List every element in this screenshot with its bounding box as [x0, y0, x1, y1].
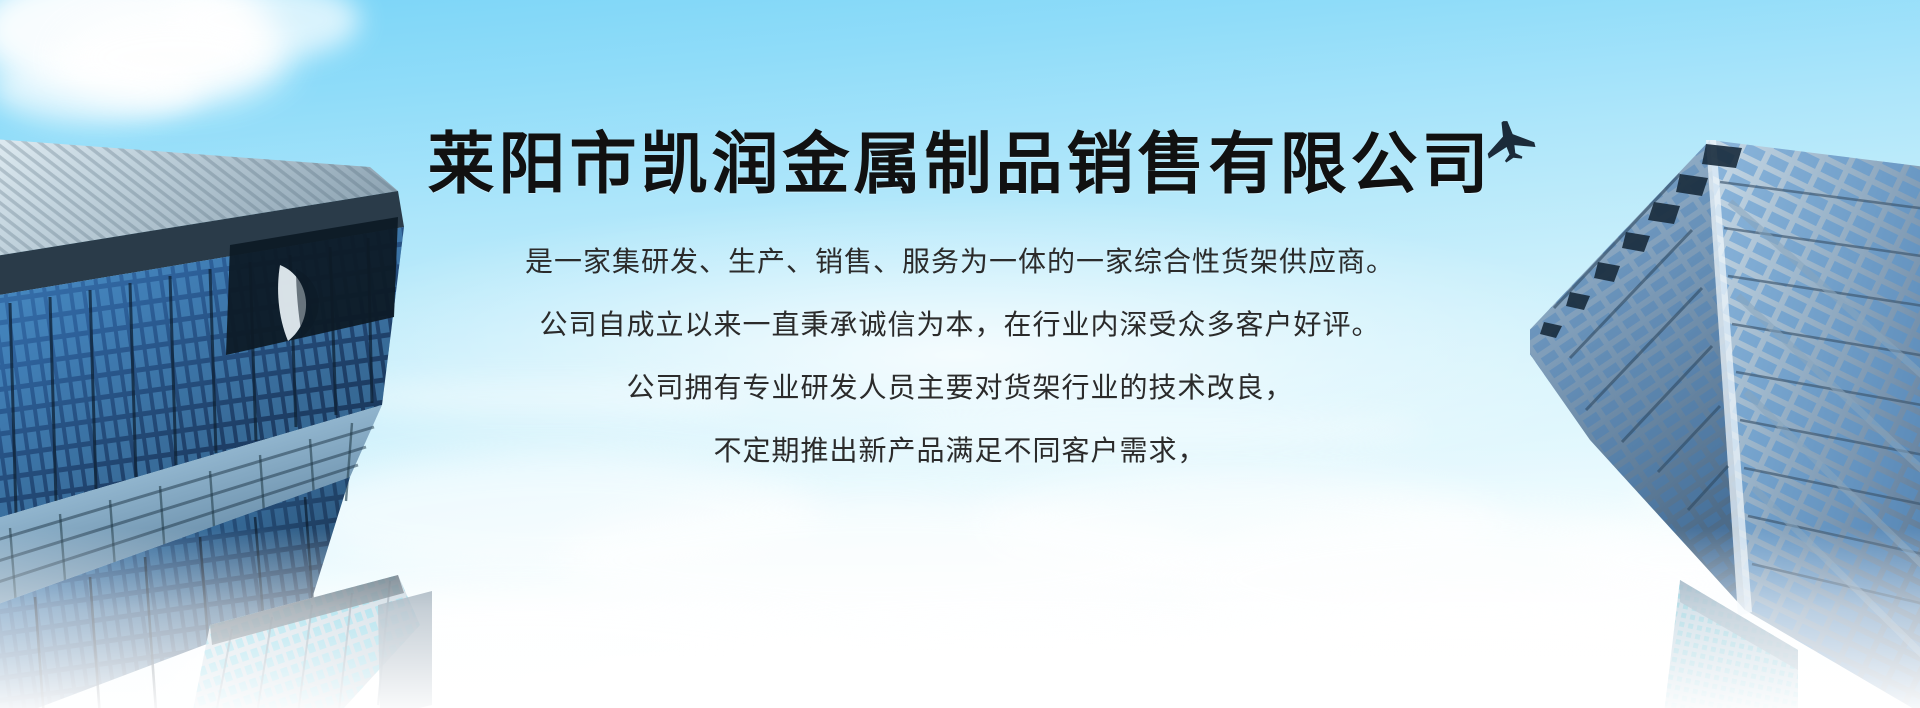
company-title: 莱阳市凯润金属制品销售有限公司: [0, 128, 1920, 202]
description-line-2: 公司自成立以来一直秉承诚信为本，在行业内深受众多客户好评。: [0, 293, 1920, 356]
description-line-1: 是一家集研发、生产、销售、服务为一体的一家综合性货架供应商。: [0, 230, 1920, 293]
hero-banner: 莱阳市凯润金属制品销售有限公司 是一家集研发、生产、销售、服务为一体的一家综合性…: [0, 0, 1920, 708]
description-line-4: 不定期推出新产品满足不同客户需求，: [0, 419, 1920, 482]
description-line-3: 公司拥有专业研发人员主要对货架行业的技术改良，: [0, 356, 1920, 419]
company-description: 是一家集研发、生产、销售、服务为一体的一家综合性货架供应商。 公司自成立以来一直…: [0, 230, 1920, 482]
cloud-right-2: [1560, 520, 1790, 600]
banner-content: 莱阳市凯润金属制品销售有限公司 是一家集研发、生产、销售、服务为一体的一家综合性…: [0, 128, 1920, 482]
